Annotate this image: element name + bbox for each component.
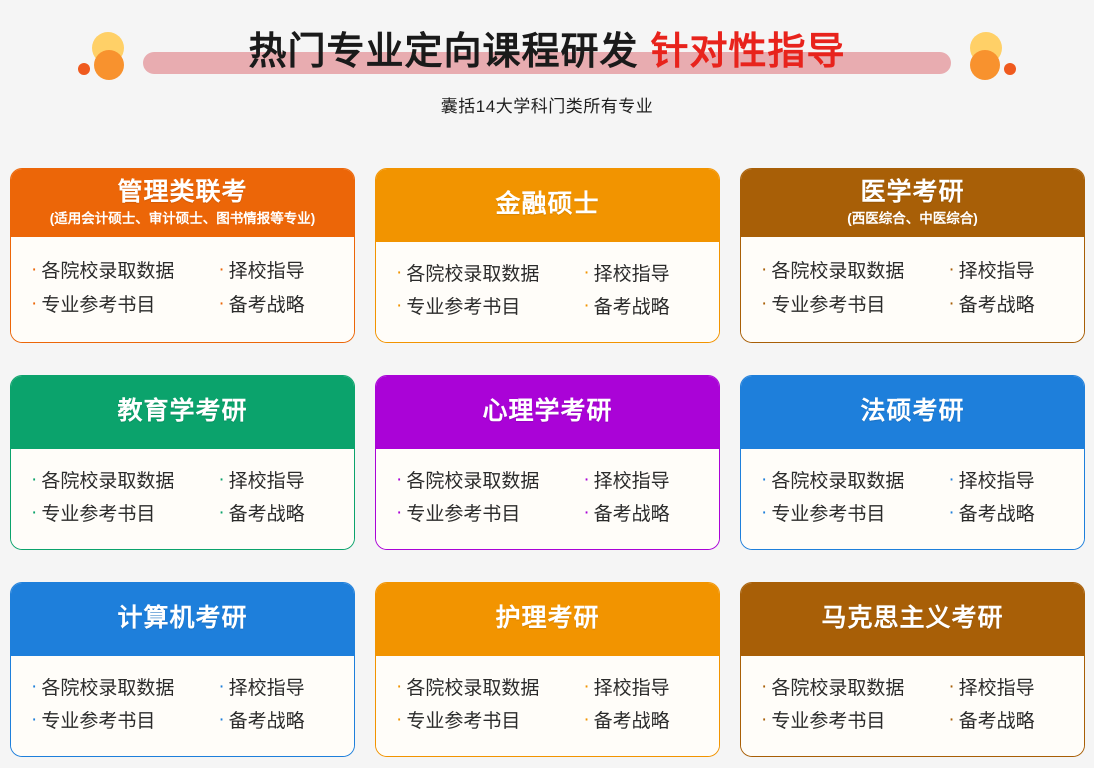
bullet-dot-icon: · (396, 710, 402, 729)
course-feature-label: 各院校录取数据 (406, 261, 539, 289)
course-feature-label: 各院校录取数据 (41, 258, 174, 286)
course-feature-label: 各院校录取数据 (771, 258, 904, 286)
bullet-dot-icon: · (31, 260, 37, 279)
course-feature-label: 备考战略 (594, 294, 670, 322)
course-feature-label: 择校指导 (959, 468, 1035, 496)
course-card[interactable]: 心理学考研·各院校录取数据·择校指导·专业参考书目·备考战略 (375, 375, 720, 550)
course-feature-label: 择校指导 (229, 675, 305, 703)
bullet-dot-icon: · (31, 294, 37, 313)
course-card[interactable]: 法硕考研·各院校录取数据·择校指导·专业参考书目·备考战略 (740, 375, 1085, 550)
course-feature-label: 择校指导 (594, 675, 670, 703)
course-feature-item: ·各院校录取数据 (396, 468, 583, 496)
course-card[interactable]: 金融硕士·各院校录取数据·择校指导·专业参考书目·备考战略 (375, 168, 720, 343)
course-feature-label: 专业参考书目 (771, 292, 885, 320)
course-card[interactable]: 教育学考研·各院校录取数据·择校指导·专业参考书目·备考战略 (10, 375, 355, 550)
course-card-header: 管理类联考(适用会计硕士、审计硕士、图书情报等专业) (11, 169, 354, 237)
course-feature-item: ·择校指导 (218, 258, 354, 286)
course-feature-item: ·择校指导 (218, 468, 354, 496)
course-feature-item: ·各院校录取数据 (31, 468, 218, 496)
course-feature-item: ·备考战略 (948, 501, 1084, 529)
course-feature-label: 专业参考书目 (406, 294, 520, 322)
bullet-dot-icon: · (761, 710, 767, 729)
course-feature-item: ·各院校录取数据 (31, 258, 218, 286)
bullet-dot-icon: · (948, 294, 954, 313)
course-feature-label: 备考战略 (959, 501, 1035, 529)
course-feature-label: 择校指导 (594, 468, 670, 496)
course-feature-label: 备考战略 (594, 501, 670, 529)
course-feature-label: 专业参考书目 (771, 708, 885, 736)
course-feature-label: 备考战略 (229, 708, 305, 736)
course-feature-item: ·备考战略 (948, 292, 1084, 320)
course-feature-item: ·专业参考书目 (396, 501, 583, 529)
bullet-dot-icon: · (218, 470, 224, 489)
course-card-title: 管理类联考 (17, 177, 348, 208)
course-feature-item: ·各院校录取数据 (761, 468, 948, 496)
page-header: 热门专业定向课程研发针对性指导 囊括14大学科门类所有专业 (0, 0, 1094, 130)
course-feature-label: 各院校录取数据 (406, 468, 539, 496)
course-feature-item: ·备考战略 (583, 294, 719, 322)
course-card-header: 护理考研 (376, 583, 719, 656)
course-card-header: 心理学考研 (376, 376, 719, 449)
bullet-dot-icon: · (948, 260, 954, 279)
course-card-subtitle: (西医综合、中医综合) (747, 211, 1078, 227)
course-card-body: ·各院校录取数据·择校指导·专业参考书目·备考战略 (11, 449, 354, 549)
course-card-body: ·各院校录取数据·择校指导·专业参考书目·备考战略 (376, 449, 719, 549)
course-card-title: 护理考研 (382, 603, 713, 634)
course-feature-item: ·备考战略 (218, 708, 354, 736)
bullet-dot-icon: · (218, 260, 224, 279)
course-card-body: ·各院校录取数据·择校指导·专业参考书目·备考战略 (741, 656, 1084, 756)
bullet-dot-icon: · (218, 710, 224, 729)
bullet-dot-icon: · (218, 677, 224, 696)
bullet-dot-icon: · (761, 677, 767, 696)
bullet-dot-icon: · (583, 263, 589, 282)
course-feature-label: 专业参考书目 (406, 708, 520, 736)
course-feature-item: ·各院校录取数据 (761, 258, 948, 286)
course-card[interactable]: 管理类联考(适用会计硕士、审计硕士、图书情报等专业)·各院校录取数据·择校指导·… (10, 168, 355, 343)
bullet-dot-icon: · (583, 710, 589, 729)
bullet-dot-icon: · (948, 503, 954, 522)
bullet-dot-icon: · (583, 677, 589, 696)
course-feature-item: ·专业参考书目 (396, 708, 583, 736)
bullet-dot-icon: · (761, 294, 767, 313)
course-card-body: ·各院校录取数据·择校指导·专业参考书目·备考战略 (741, 237, 1084, 342)
course-feature-label: 择校指导 (959, 258, 1035, 286)
course-feature-item: ·各院校录取数据 (396, 675, 583, 703)
course-feature-item: ·专业参考书目 (31, 292, 218, 320)
bullet-dot-icon: · (396, 263, 402, 282)
bullet-dot-icon: · (396, 470, 402, 489)
course-feature-label: 备考战略 (594, 708, 670, 736)
course-feature-label: 专业参考书目 (41, 292, 155, 320)
course-feature-label: 备考战略 (229, 292, 305, 320)
course-feature-item: ·各院校录取数据 (396, 261, 583, 289)
course-feature-label: 各院校录取数据 (771, 675, 904, 703)
course-card[interactable]: 马克思主义考研·各院校录取数据·择校指导·专业参考书目·备考战略 (740, 582, 1085, 757)
course-feature-item: ·备考战略 (583, 501, 719, 529)
course-card[interactable]: 计算机考研·各院校录取数据·择校指导·专业参考书目·备考战略 (10, 582, 355, 757)
course-card-subtitle: (适用会计硕士、审计硕士、图书情报等专业) (17, 211, 348, 227)
course-feature-label: 择校指导 (594, 261, 670, 289)
course-feature-label: 备考战略 (959, 292, 1035, 320)
course-feature-label: 各院校录取数据 (41, 468, 174, 496)
bullet-dot-icon: · (218, 294, 224, 313)
bullet-dot-icon: · (761, 470, 767, 489)
bullet-dot-icon: · (948, 710, 954, 729)
course-feature-label: 各院校录取数据 (406, 675, 539, 703)
bullet-dot-icon: · (31, 470, 37, 489)
course-feature-item: ·备考战略 (583, 708, 719, 736)
course-feature-item: ·专业参考书目 (761, 292, 948, 320)
course-feature-label: 专业参考书目 (771, 501, 885, 529)
bullet-dot-icon: · (396, 503, 402, 522)
bullet-dot-icon: · (948, 470, 954, 489)
course-feature-label: 各院校录取数据 (41, 675, 174, 703)
bullet-dot-icon: · (396, 296, 402, 315)
course-card-title: 医学考研 (747, 177, 1078, 208)
course-card-header: 教育学考研 (11, 376, 354, 449)
bullet-dot-icon: · (583, 503, 589, 522)
bullet-dot-icon: · (583, 296, 589, 315)
course-card-body: ·各院校录取数据·择校指导·专业参考书目·备考战略 (741, 449, 1084, 549)
page-title-primary: 热门专业定向课程研发 (248, 31, 638, 73)
bullet-dot-icon: · (31, 503, 37, 522)
course-feature-item: ·各院校录取数据 (31, 675, 218, 703)
course-feature-label: 择校指导 (229, 468, 305, 496)
course-feature-item: ·择校指导 (948, 258, 1084, 286)
course-feature-label: 各院校录取数据 (771, 468, 904, 496)
page-subtitle: 囊括14大学科门类所有专业 (0, 92, 1094, 117)
course-feature-item: ·择校指导 (583, 675, 719, 703)
course-card-header: 法硕考研 (741, 376, 1084, 449)
course-feature-item: ·专业参考书目 (31, 708, 218, 736)
course-feature-item: ·备考战略 (218, 292, 354, 320)
course-card-title: 金融硕士 (382, 189, 713, 220)
course-card[interactable]: 医学考研(西医综合、中医综合)·各院校录取数据·择校指导·专业参考书目·备考战略 (740, 168, 1085, 343)
bullet-dot-icon: · (761, 503, 767, 522)
bullet-dot-icon: · (31, 710, 37, 729)
bullet-dot-icon: · (396, 677, 402, 696)
course-card-header: 计算机考研 (11, 583, 354, 656)
course-feature-label: 专业参考书目 (41, 501, 155, 529)
course-feature-item: ·择校指导 (948, 468, 1084, 496)
bullet-dot-icon: · (31, 677, 37, 696)
course-feature-item: ·专业参考书目 (396, 294, 583, 322)
course-card-title: 心理学考研 (382, 396, 713, 427)
course-card-header: 金融硕士 (376, 169, 719, 242)
course-card-header: 医学考研(西医综合、中医综合) (741, 169, 1084, 237)
course-feature-item: ·各院校录取数据 (761, 675, 948, 703)
course-feature-item: ·专业参考书目 (761, 708, 948, 736)
course-feature-item: ·择校指导 (583, 261, 719, 289)
bullet-dot-icon: · (583, 470, 589, 489)
course-feature-label: 专业参考书目 (406, 501, 520, 529)
bullet-dot-icon: · (761, 260, 767, 279)
course-feature-item: ·专业参考书目 (31, 501, 218, 529)
course-card-title: 教育学考研 (17, 396, 348, 427)
course-feature-label: 专业参考书目 (41, 708, 155, 736)
course-card-grid: 管理类联考(适用会计硕士、审计硕士、图书情报等专业)·各院校录取数据·择校指导·… (10, 168, 1084, 757)
course-feature-label: 择校指导 (229, 258, 305, 286)
course-card-body: ·各院校录取数据·择校指导·专业参考书目·备考战略 (376, 242, 719, 342)
course-card-header: 马克思主义考研 (741, 583, 1084, 656)
course-card-title: 马克思主义考研 (747, 603, 1078, 634)
course-card[interactable]: 护理考研·各院校录取数据·择校指导·专业参考书目·备考战略 (375, 582, 720, 757)
course-feature-label: 择校指导 (959, 675, 1035, 703)
course-feature-item: ·备考战略 (948, 708, 1084, 736)
course-card-body: ·各院校录取数据·择校指导·专业参考书目·备考战略 (11, 656, 354, 756)
course-feature-item: ·择校指导 (218, 675, 354, 703)
course-feature-item: ·专业参考书目 (761, 501, 948, 529)
course-card-title: 计算机考研 (17, 603, 348, 634)
course-feature-item: ·备考战略 (218, 501, 354, 529)
bullet-dot-icon: · (218, 503, 224, 522)
course-card-title: 法硕考研 (747, 396, 1078, 427)
course-feature-label: 备考战略 (229, 501, 305, 529)
course-feature-item: ·择校指导 (583, 468, 719, 496)
course-card-body: ·各院校录取数据·择校指导·专业参考书目·备考战略 (376, 656, 719, 756)
bullet-dot-icon: · (948, 677, 954, 696)
course-feature-label: 备考战略 (959, 708, 1035, 736)
course-card-body: ·各院校录取数据·择校指导·专业参考书目·备考战略 (11, 237, 354, 342)
page-title-accent: 针对性指导 (651, 31, 846, 73)
course-feature-item: ·择校指导 (948, 675, 1084, 703)
